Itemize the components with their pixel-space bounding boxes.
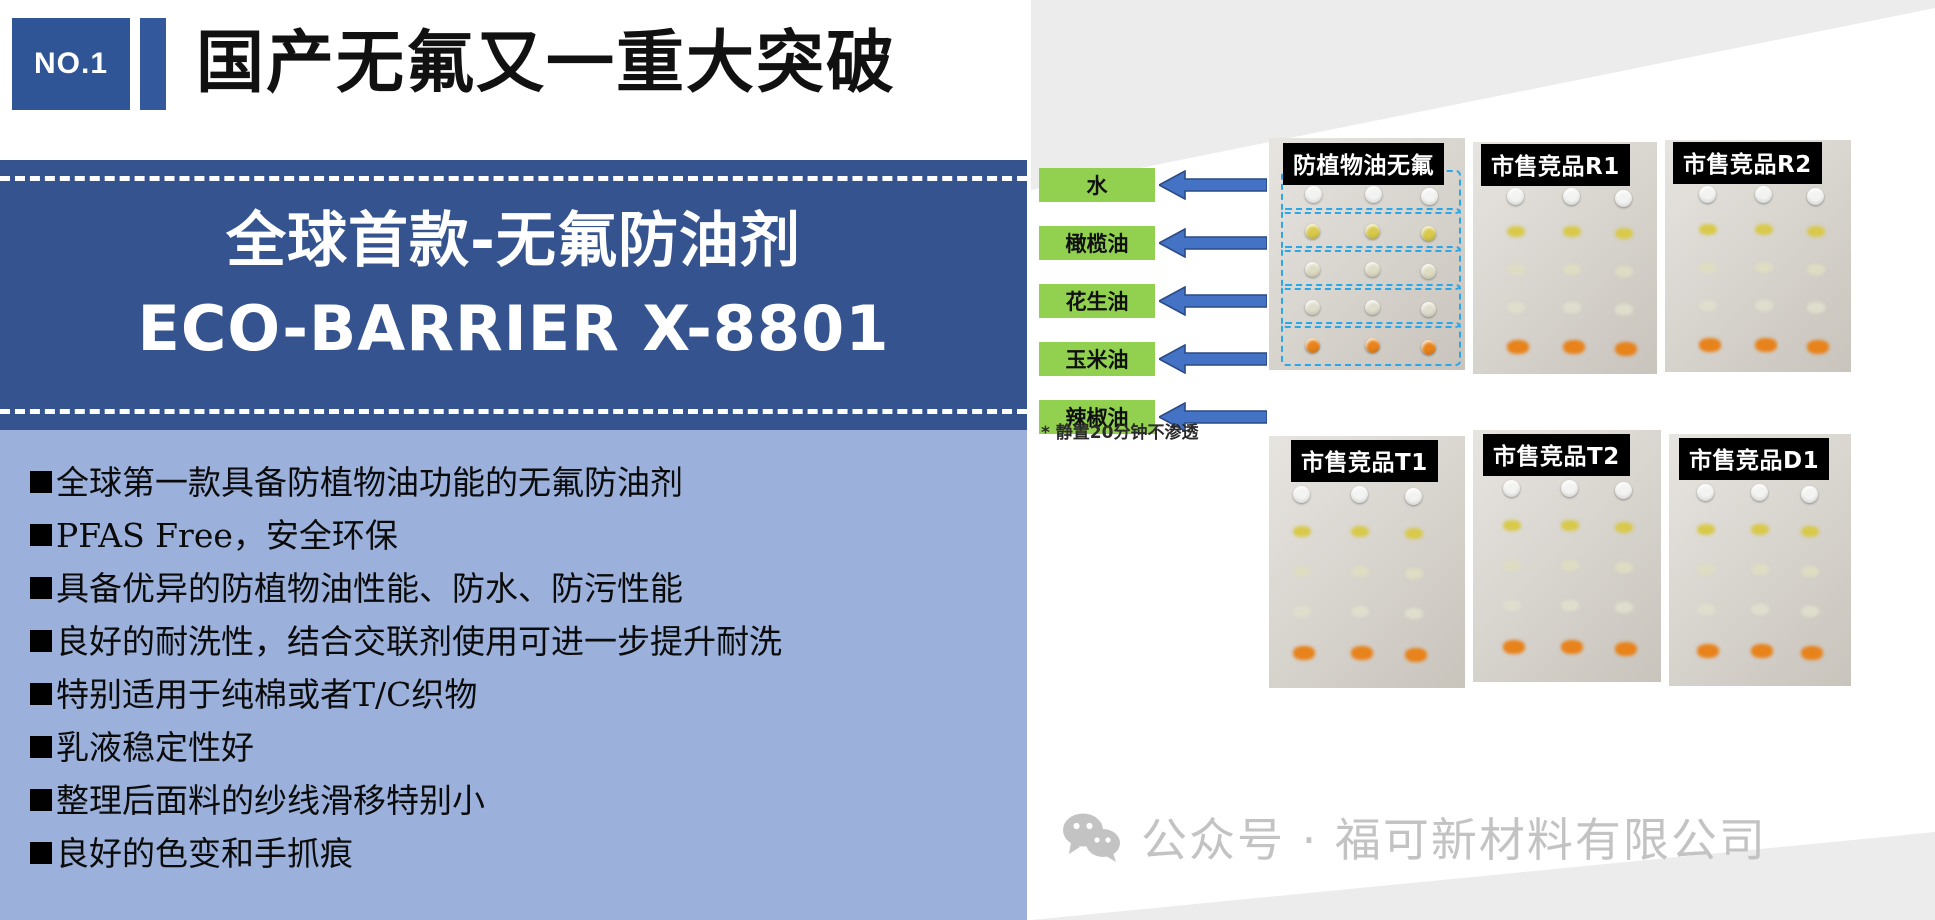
feature-bullet-label: 良好的色变和手抓痕 (56, 831, 353, 876)
sample-photo-row-bottom: 市售竞品T1市售竞品T2市售竞品D1 (1269, 430, 1851, 688)
liquid-droplet (1503, 520, 1521, 531)
feature-bullet-label: 整理后面料的纱线滑移特别小 (56, 778, 485, 823)
liquid-droplet (1507, 264, 1525, 275)
slide-header: NO.1 国产无氟又一重大突破 (0, 0, 1027, 160)
badge-accent-bar (140, 18, 166, 110)
liquid-droplet (1405, 568, 1423, 579)
liquid-droplet (1507, 302, 1525, 313)
liquid-droplet (1563, 226, 1581, 237)
legend-chip: 水 (1039, 168, 1155, 202)
bullet-square-icon (30, 471, 52, 493)
liquid-droplet (1305, 300, 1320, 315)
sample-name-label: 市售竞品D1 (1679, 438, 1829, 480)
liquid-droplet (1305, 338, 1320, 353)
liquid-droplet (1751, 564, 1769, 575)
banner-dashed-divider-top (0, 176, 1027, 181)
liquid-droplet (1801, 606, 1819, 617)
sample-swatch: 防植物油无氟 (1269, 138, 1465, 370)
liquid-droplet (1751, 484, 1768, 501)
sample-name-label: 市售竞品T2 (1483, 434, 1630, 476)
liquid-droplet (1305, 262, 1320, 277)
wechat-icon (1061, 811, 1125, 868)
liquid-droplet (1421, 264, 1436, 279)
liquid-droplet (1697, 604, 1715, 615)
liquid-droplet (1615, 562, 1633, 573)
liquid-droplet (1755, 300, 1773, 311)
sample-swatch: 市售竞品R1 (1473, 142, 1657, 374)
liquid-droplet (1507, 340, 1529, 354)
liquid-droplet (1293, 606, 1311, 617)
test-condition-note: * 静置20分钟不渗透 (1041, 418, 1198, 443)
feature-bullet: 乳液稳定性好 (30, 725, 1010, 770)
bullet-square-icon (30, 683, 52, 705)
liquid-droplet (1351, 486, 1368, 503)
liquid-droplet (1807, 340, 1829, 354)
liquid-droplet (1365, 300, 1380, 315)
liquid-droplet (1561, 600, 1579, 611)
left-arrow-icon (1159, 170, 1267, 200)
liquid-droplet (1351, 526, 1369, 537)
liquid-droplet (1563, 264, 1581, 275)
legend-item-2: 橄榄油 (1039, 226, 1271, 272)
number-badge: NO.1 (12, 18, 130, 110)
liquid-droplet (1801, 646, 1823, 660)
liquid-droplet (1305, 224, 1320, 239)
bullet-square-icon (30, 630, 52, 652)
wechat-footer: 公众号 · 福可新材料有限公司 (1061, 811, 1767, 868)
feature-bullet-label: 乳液稳定性好 (56, 725, 254, 770)
liquid-droplet (1503, 640, 1525, 654)
liquid-droplet (1807, 264, 1825, 275)
liquid-droplet (1305, 186, 1322, 203)
left-arrow-icon (1159, 344, 1267, 374)
left-arrow-icon (1159, 228, 1267, 258)
features-panel: 全球第一款具备防植物油功能的无氟防油剂 PFAS Free，安全环保具备优异的防… (0, 430, 1027, 920)
liquid-droplet (1699, 186, 1716, 203)
legend-chip: 玉米油 (1039, 342, 1155, 376)
liquid-droplet (1615, 342, 1637, 356)
liquid-droplet (1615, 482, 1632, 499)
left-arrow-icon (1159, 286, 1267, 316)
liquid-droplet (1615, 228, 1633, 239)
liquid-droplet (1365, 224, 1380, 239)
sample-name-label: 市售竞品R2 (1673, 142, 1822, 184)
liquid-droplet (1503, 480, 1520, 497)
liquid-droplet (1699, 300, 1717, 311)
feature-bullet-label: 良好的耐洗性，结合交联剂使用可进一步提升耐洗 (56, 619, 782, 664)
liquid-legend: 水橄榄油花生油玉米油辣椒油 (1039, 168, 1271, 458)
liquid-droplet (1615, 602, 1633, 613)
liquid-droplet (1421, 226, 1436, 241)
sample-name-label: 防植物油无氟 (1283, 143, 1444, 185)
bullet-square-icon (30, 524, 52, 546)
feature-bullet: 良好的色变和手抓痕 (30, 831, 1010, 876)
banner-headline-cn: 全球首款-无氟防油剂 (0, 198, 1027, 284)
feature-bullet: 良好的耐洗性，结合交联剂使用可进一步提升耐洗 (30, 619, 1010, 664)
sample-swatch: 市售竞品T1 (1269, 436, 1465, 688)
liquid-droplet (1561, 640, 1583, 654)
liquid-droplet (1807, 302, 1825, 313)
liquid-droplet (1615, 266, 1633, 277)
bullet-square-icon (30, 789, 52, 811)
sample-swatch: 市售竞品D1 (1669, 434, 1851, 686)
legend-item-1: 水 (1039, 168, 1271, 214)
sample-name-label: 市售竞品R1 (1481, 144, 1630, 186)
liquid-droplet (1801, 526, 1819, 537)
liquid-droplet (1293, 566, 1311, 577)
banner-dashed-divider-bottom (0, 409, 1027, 414)
wechat-account-name: 公众号 · 福可新材料有限公司 (1141, 812, 1767, 868)
feature-bullet: 全球第一款具备防植物油功能的无氟防油剂 (30, 460, 1010, 505)
liquid-droplet (1699, 262, 1717, 273)
liquid-droplet (1755, 186, 1772, 203)
feature-bullet-label: 全球第一款具备防植物油功能的无氟防油剂 (56, 460, 683, 505)
liquid-droplet (1365, 186, 1382, 203)
liquid-droplet (1561, 520, 1579, 531)
banner-headline-en: ECO-BARRIER X-8801 (0, 284, 1027, 374)
liquid-droplet (1561, 480, 1578, 497)
liquid-droplet (1507, 188, 1524, 205)
feature-bullet-label: 具备优异的防植物油性能、防水、防污性能 (56, 566, 683, 611)
banner-text-block: 全球首款-无氟防油剂 ECO-BARRIER X-8801 (0, 198, 1027, 374)
liquid-droplet (1351, 566, 1369, 577)
liquid-droplet (1365, 338, 1380, 353)
test-results-panel: 水橄榄油花生油玉米油辣椒油 * 静置20分钟不渗透 防植物油无氟市售竞品R1市售… (1031, 0, 1935, 920)
legend-chip: 花生油 (1039, 284, 1155, 318)
liquid-droplet (1421, 340, 1436, 355)
liquid-droplet (1405, 648, 1427, 662)
sample-swatch: 市售竞品T2 (1473, 430, 1661, 682)
liquid-droplet (1615, 190, 1632, 207)
liquid-droplet (1293, 646, 1315, 660)
bullet-square-icon (30, 736, 52, 758)
slide: NO.1 国产无氟又一重大突破 全球首款-无氟防油剂 ECO-BARRIER X… (0, 0, 1935, 920)
liquid-droplet (1563, 340, 1585, 354)
legend-item-3: 花生油 (1039, 284, 1271, 330)
liquid-droplet (1351, 646, 1373, 660)
feature-bullet-label: PFAS Free，安全环保 (56, 513, 398, 558)
feature-bullet-list: 全球第一款具备防植物油功能的无氟防油剂 PFAS Free，安全环保具备优异的防… (30, 460, 1010, 884)
liquid-droplet (1615, 522, 1633, 533)
liquid-droplet (1807, 188, 1824, 205)
sample-swatch: 市售竞品R2 (1665, 140, 1851, 372)
liquid-droplet (1405, 488, 1422, 505)
liquid-droplet (1405, 608, 1423, 619)
liquid-droplet (1699, 338, 1721, 352)
feature-bullet-label: 特别适用于纯棉或者T/C织物 (56, 672, 477, 717)
liquid-droplet (1405, 528, 1423, 539)
liquid-droplet (1755, 224, 1773, 235)
left-content-panel: NO.1 国产无氟又一重大突破 全球首款-无氟防油剂 ECO-BARRIER X… (0, 0, 1027, 920)
legend-item-4: 玉米油 (1039, 342, 1271, 388)
bullet-square-icon (30, 842, 52, 864)
liquid-droplet (1697, 644, 1719, 658)
liquid-droplet (1503, 600, 1521, 611)
liquid-droplet (1293, 526, 1311, 537)
liquid-droplet (1503, 560, 1521, 571)
liquid-droplet (1751, 644, 1773, 658)
feature-bullet: 整理后面料的纱线滑移特别小 (30, 778, 1010, 823)
liquid-droplet (1615, 304, 1633, 315)
liquid-droplet (1807, 226, 1825, 237)
liquid-droplet (1561, 560, 1579, 571)
liquid-droplet (1293, 486, 1310, 503)
liquid-droplet (1507, 226, 1525, 237)
liquid-droplet (1697, 524, 1715, 535)
liquid-droplet (1697, 564, 1715, 575)
feature-bullet: 具备优异的防植物油性能、防水、防污性能 (30, 566, 1010, 611)
sample-name-label: 市售竞品T1 (1291, 440, 1438, 482)
liquid-droplet (1421, 302, 1436, 317)
legend-chip: 橄榄油 (1039, 226, 1155, 260)
liquid-droplet (1563, 188, 1580, 205)
liquid-droplet (1351, 606, 1369, 617)
liquid-droplet (1801, 566, 1819, 577)
liquid-droplet (1421, 188, 1438, 205)
liquid-droplet (1751, 524, 1769, 535)
bullet-square-icon (30, 577, 52, 599)
page-title: 国产无氟又一重大突破 (196, 16, 896, 112)
liquid-droplet (1697, 484, 1714, 501)
liquid-droplet (1755, 338, 1777, 352)
product-banner: 全球首款-无氟防油剂 ECO-BARRIER X-8801 (0, 160, 1027, 430)
liquid-droplet (1699, 224, 1717, 235)
feature-bullet: 特别适用于纯棉或者T/C织物 (30, 672, 1010, 717)
sample-photo-row-top: 防植物油无氟市售竞品R1市售竞品R2 (1269, 138, 1851, 374)
liquid-droplet (1755, 262, 1773, 273)
liquid-droplet (1563, 302, 1581, 313)
liquid-droplet (1365, 262, 1380, 277)
liquid-droplet (1615, 642, 1637, 656)
feature-bullet: PFAS Free，安全环保 (30, 513, 1010, 558)
liquid-droplet (1801, 486, 1818, 503)
liquid-droplet (1751, 604, 1769, 615)
